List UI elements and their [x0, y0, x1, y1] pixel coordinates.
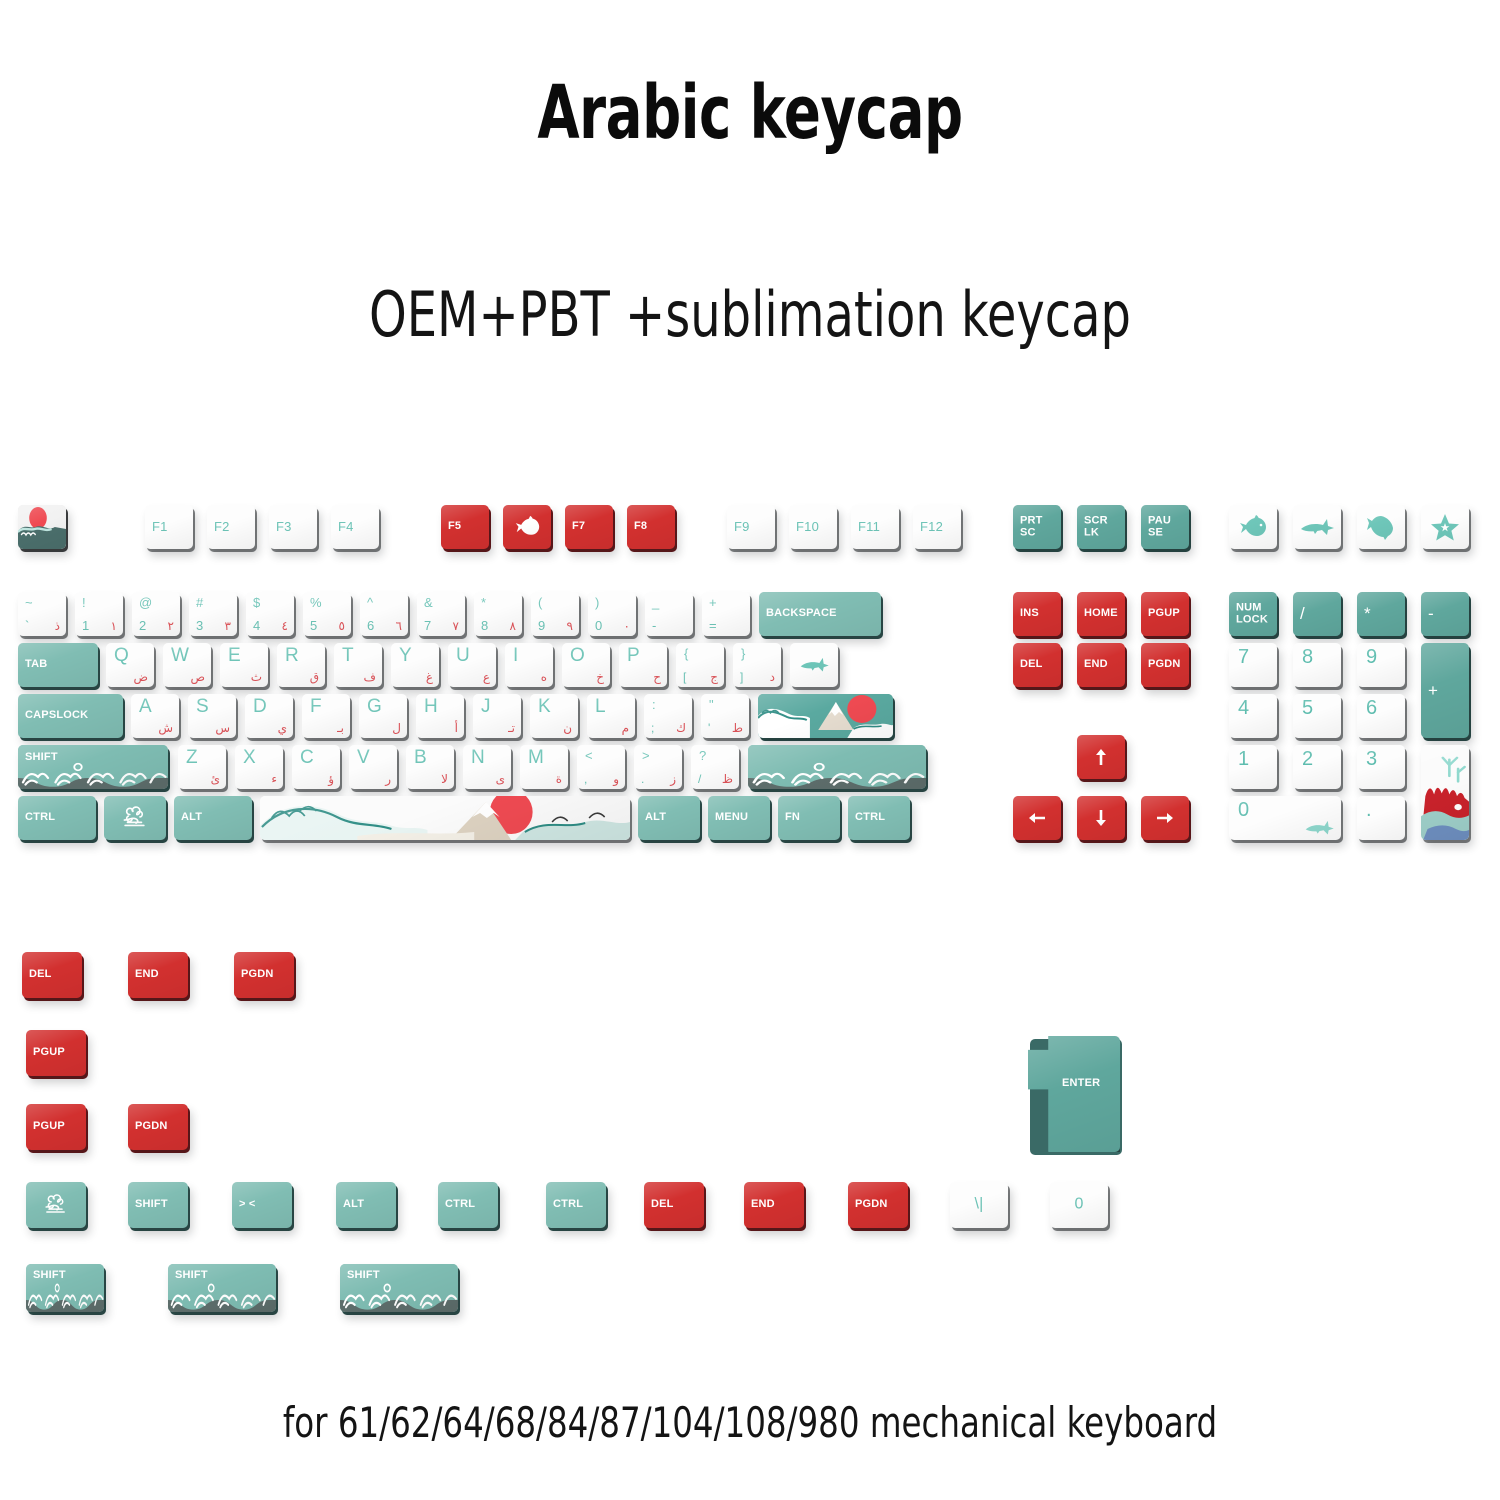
keycap-arabic-legend: ٧ — [453, 619, 459, 633]
keycap-legend: ALT — [645, 812, 666, 824]
keycap-extra-pgup-1[interactable]: PGUP — [26, 1030, 86, 1076]
keycap-legend-group: Tف — [334, 643, 382, 687]
keycap-arrow-right[interactable] — [1141, 796, 1189, 840]
keycap-legend: PGUP — [33, 1047, 65, 1059]
keycap-arabic-legend: ر — [385, 772, 391, 786]
keycap-key-i[interactable]: Iه — [505, 643, 553, 687]
keycap-key-y[interactable]: Yغ — [391, 643, 439, 687]
keycap-legend-group: "'ط — [701, 694, 749, 738]
keycap-digit-4[interactable]: $4٤ — [246, 592, 294, 636]
keycap-key-d[interactable]: Dي — [245, 694, 293, 738]
keycap-extra-shift-1[interactable]: SHIFT — [128, 1182, 188, 1228]
keycap-legend-group: Dي — [245, 694, 293, 738]
keycap-backtick[interactable]: ~`ذ — [18, 592, 66, 636]
keycap-legend: END — [1084, 659, 1108, 671]
keycap-shark-icon[interactable] — [1293, 505, 1341, 549]
keycap-scroll-lock[interactable]: SCRLK — [1077, 505, 1125, 549]
keycap-extra-shift-4[interactable]: SHIFT — [340, 1264, 458, 1312]
keycap-primary-legend: D — [253, 696, 267, 718]
keycap-legend-group: Uع — [448, 643, 496, 687]
keycap-legend: \| — [974, 1197, 983, 1214]
keycap-legend: F9 — [734, 520, 750, 534]
keycap-primary-legend: 3 — [196, 618, 204, 633]
keycap-numpad-5[interactable]: 5 — [1293, 694, 1341, 738]
keycap-legend-group: Iه — [505, 643, 553, 687]
keycap-numpad-0[interactable]: 0 — [1229, 796, 1341, 840]
keycap-arabic-legend: ه — [541, 670, 547, 684]
keycap-arabic-legend: غ — [426, 670, 433, 684]
keycap-numpad-divide[interactable]: / — [1293, 592, 1341, 636]
keycap-primary-legend: U — [456, 645, 470, 667]
keycap-arabic-legend: خ — [596, 670, 604, 684]
keycap-numpad-minus[interactable]: - — [1421, 592, 1469, 636]
keycap-digit-2[interactable]: @2٢ — [132, 592, 180, 636]
keycap-legend: HOME — [1084, 608, 1118, 620]
keycap-legend-group: Yغ — [391, 643, 439, 687]
shark-icon — [1229, 796, 1341, 840]
keycap-numpad-1[interactable]: 1 — [1229, 745, 1277, 789]
keycap-legend: SHIFT — [347, 1270, 380, 1282]
keycap-key-f[interactable]: Fبـ — [302, 694, 350, 738]
keycap-primary-legend: 8 — [481, 618, 489, 633]
keycap-legend-group: {[ج — [676, 643, 724, 687]
keycap-legend: DEL — [1020, 659, 1043, 671]
keycap-legend: CTRL — [445, 1199, 475, 1211]
keycap-extra-zero[interactable]: 0 — [1050, 1182, 1108, 1228]
keycap-primary-legend: " — [709, 697, 714, 712]
keycap-primary-legend: 7 — [424, 618, 432, 633]
keycap-arabic-legend: ق — [310, 670, 319, 684]
keycap-f2[interactable]: F2 — [207, 505, 255, 549]
keycap-legend: 3 — [1366, 749, 1377, 770]
keycap-legend: F12 — [920, 520, 943, 534]
keycap-legend-group: Zئ — [178, 745, 226, 789]
keycap-legend: CAPSLOCK — [25, 710, 88, 722]
keycap-legend: FN — [785, 812, 800, 824]
keycap-legend: 0 — [1074, 1197, 1083, 1214]
keycap-legend: / — [1300, 605, 1305, 623]
keycap-shifted-legend: _ — [652, 595, 660, 610]
keycap-digit-1[interactable]: !1١ — [75, 592, 123, 636]
keycap-arabic-legend: ك — [676, 721, 686, 735]
keycap-minus[interactable]: _- — [645, 592, 693, 636]
keycap-backspace[interactable]: BACKSPACE — [759, 592, 881, 636]
wave-pattern-artwork — [748, 745, 926, 789]
keycap-key-p[interactable]: Pح — [619, 643, 667, 687]
keycap-legend-group: Rق — [277, 643, 325, 687]
keycap-primary-legend: 2 — [139, 618, 147, 633]
keycap-legend: NUMLOCK — [1236, 602, 1268, 625]
keycap-legend: F5 — [448, 521, 461, 533]
keycap-arrow-up[interactable] — [1077, 735, 1125, 779]
keycap-legend-group: &7٧ — [417, 592, 465, 636]
keycap-primary-legend: : — [652, 697, 656, 712]
keycap-digit-0[interactable]: )0٠ — [588, 592, 636, 636]
keycap-f7[interactable]: F7 — [565, 505, 613, 549]
keycap-arabic-legend: ٥ — [339, 619, 345, 633]
keycap-key-e[interactable]: Eث — [220, 643, 268, 687]
keycap-arabic-legend: ث — [251, 670, 262, 684]
keycap-legend-group: _- — [645, 592, 693, 636]
keycap-pause[interactable]: PAUSE — [1141, 505, 1189, 549]
keycap-f1[interactable]: F1 — [145, 505, 193, 549]
keycap-key-m[interactable]: Mة — [520, 745, 568, 789]
keycap-menu[interactable]: MENU — [708, 796, 770, 840]
keycap-legend-group: (9٩ — [531, 592, 579, 636]
keycap-key-s[interactable]: Sس — [188, 694, 236, 738]
keycap-slash[interactable]: ?/ظ — [691, 745, 739, 789]
keycap-angelfish-icon[interactable] — [1357, 505, 1405, 549]
keycap-arabic-legend: ض — [133, 670, 148, 684]
keycap-digit-8[interactable]: *8٨ — [474, 592, 522, 636]
keycap-arabic-legend: و — [613, 772, 619, 786]
keycap-numpad-2[interactable]: 2 — [1293, 745, 1341, 789]
keycap-legend-group: <,و — [577, 745, 625, 789]
keycap-primary-legend: 1 — [82, 618, 90, 633]
keycap-caps-lock[interactable]: CAPSLOCK — [18, 694, 123, 738]
keycap-primary-legend: 6 — [367, 618, 375, 633]
keycap-primary-legend: Z — [186, 747, 198, 769]
keycap-primary-legend: 9 — [538, 618, 546, 633]
keycap-key-a[interactable]: Aش — [131, 694, 179, 738]
keycap-equal[interactable]: += — [702, 592, 750, 636]
keycap-digit-6[interactable]: ^6٦ — [360, 592, 408, 636]
keycap-left-alt[interactable]: ALT — [174, 796, 252, 840]
koi-fish-icon — [503, 505, 551, 549]
keycap-legend: CTRL — [855, 812, 885, 824]
keycap-key-k[interactable]: Kن — [530, 694, 578, 738]
keycap-numpad-7[interactable]: 7 — [1229, 643, 1277, 687]
keycap-enter[interactable] — [758, 694, 893, 738]
keycap-arabic-legend: ٢ — [168, 619, 174, 633]
keycap-arabic-legend: ء — [271, 772, 277, 786]
keycap-extra-backslash[interactable]: \| — [950, 1182, 1008, 1228]
keycap-extra-pgdn-2[interactable]: PGDN — [128, 1104, 188, 1150]
keycap-secondary-legend: ; — [651, 721, 655, 735]
keycap-legend: * — [1364, 605, 1371, 623]
keycap-primary-legend: Q — [114, 645, 129, 667]
keycap-backslash[interactable] — [790, 643, 838, 687]
angelfish-icon — [1357, 505, 1405, 549]
keycap-shifted-legend: * — [481, 595, 486, 610]
keycap-legend-group: Kن — [530, 694, 578, 738]
keycap-key-w[interactable]: Wص — [163, 643, 211, 687]
keycap-starfish-icon[interactable] — [1421, 505, 1469, 549]
keycap-legend: TAB — [25, 659, 47, 671]
keycap-legend-group: Lم — [587, 694, 635, 738]
keycap-right-ctrl[interactable]: CTRL — [848, 796, 910, 840]
keycap-semicolon[interactable]: :;ك — [644, 694, 692, 738]
keycap-digit-3[interactable]: #3٣ — [189, 592, 237, 636]
keycap-key-q[interactable]: Qض — [106, 643, 154, 687]
keycap-shifted-legend: ) — [595, 595, 600, 610]
keycap-primary-legend: ` — [25, 618, 30, 633]
keycap-legend: 9 — [1366, 647, 1377, 668]
keycap-arabic-legend: ٨ — [510, 619, 516, 633]
keycap-f12[interactable]: F12 — [913, 505, 961, 549]
keycap-primary-legend: 5 — [310, 618, 318, 633]
keycap-set-photo: F1F2F3F4F5F7F8F9F10F11F12PRTSCSCRLKPAUSE… — [0, 0, 1500, 1500]
keycap-key-g[interactable]: Gل — [359, 694, 407, 738]
keycap-legend-group: $4٤ — [246, 592, 294, 636]
keycap-extra-shift-2[interactable]: SHIFT — [26, 1264, 104, 1312]
keycap-legend: MENU — [715, 812, 748, 824]
keycap-legend: PGUP — [33, 1121, 65, 1133]
keycap-legend: PGUP — [1148, 608, 1180, 620]
keycap-extra-enter-iso[interactable]: ENTER — [1028, 1036, 1120, 1152]
keycap-digit-9[interactable]: (9٩ — [531, 592, 579, 636]
keycap-end[interactable]: END — [1077, 643, 1125, 687]
keycap-primary-legend: K — [538, 696, 551, 718]
keycap-primary-legend: X — [243, 747, 256, 769]
keycap-numpad-plus[interactable]: + — [1421, 643, 1469, 738]
keycap-f4[interactable]: F4 — [331, 505, 379, 549]
keycap-legend-group: Aش — [131, 694, 179, 738]
keycap-f10[interactable]: F10 — [789, 505, 837, 549]
keycap-extra-del-2[interactable]: DEL — [644, 1182, 704, 1228]
keycap-f11[interactable]: F11 — [851, 505, 899, 549]
keycap-key-z[interactable]: Zئ — [178, 745, 226, 789]
keycap-arabic-legend: ؤ — [328, 772, 334, 786]
keycap-primary-legend: R — [285, 645, 299, 667]
keycap-primary-legend: W — [171, 645, 189, 667]
keycap-bracket-left[interactable]: {[ج — [676, 643, 724, 687]
keycap-legend: 4 — [1238, 698, 1249, 719]
keycap-legend: CTRL — [25, 812, 55, 824]
keycap-secondary-legend: , — [584, 772, 588, 786]
keycap-legend-group: Cؤ — [292, 745, 340, 789]
keycap-legend: PRTSC — [1020, 515, 1043, 538]
keycap-legend-group: Vر — [349, 745, 397, 789]
keycap-fn[interactable]: FN — [778, 796, 840, 840]
keycap-legend-group: Xء — [235, 745, 283, 789]
arrow-down-icon — [1077, 796, 1125, 840]
keycap-legend: DEL — [651, 1199, 674, 1211]
keycap-arabic-legend: د — [770, 670, 775, 684]
keycap-arabic-legend: ذ — [55, 619, 60, 633]
keycap-numpad-8[interactable]: 8 — [1293, 643, 1341, 687]
keycap-quote[interactable]: "'ط — [701, 694, 749, 738]
keycap-page-down[interactable]: PGDN — [1141, 643, 1189, 687]
keycap-extra-win[interactable] — [26, 1182, 86, 1228]
cloud-swirl-icon — [26, 1182, 86, 1228]
keycap-f6[interactable] — [503, 505, 551, 549]
keycap-extra-shift-3[interactable]: SHIFT — [168, 1264, 276, 1312]
keycap-legend: END — [135, 969, 159, 981]
keycap-primary-legend: V — [357, 747, 370, 769]
keycap-legend-group: Eث — [220, 643, 268, 687]
keycap-shifted-legend: ! — [82, 595, 86, 610]
keycap-arrow-down[interactable] — [1077, 796, 1125, 840]
keycap-key-u[interactable]: Uع — [448, 643, 496, 687]
keycap-primary-legend: B — [414, 747, 427, 769]
keycap-primary-legend: O — [570, 645, 585, 667]
keycap-numpad-4[interactable]: 4 — [1229, 694, 1277, 738]
keycap-extra-pgup-2[interactable]: PGUP — [26, 1104, 86, 1150]
keycap-arabic-legend: ة — [556, 772, 562, 786]
keycap-arrow-left[interactable] — [1013, 796, 1061, 840]
keycap-legend: DEL — [29, 969, 52, 981]
great-wave-spacebar-artwork — [260, 796, 630, 840]
keycap-key-b[interactable]: Bلا — [406, 745, 454, 789]
keycap-legend: CTRL — [553, 1199, 583, 1211]
keycap-comma[interactable]: <,و — [577, 745, 625, 789]
keycap-primary-legend: 4 — [253, 618, 261, 633]
keycap-print-screen[interactable]: PRTSC — [1013, 505, 1061, 549]
keycap-legend-group: Wص — [163, 643, 211, 687]
keycap-page-up[interactable]: PGUP — [1141, 592, 1189, 636]
keycap-primary-legend: S — [196, 696, 209, 718]
keycap-legend: 1 — [1238, 749, 1249, 770]
keycap-legend-group: Sس — [188, 694, 236, 738]
keycap-arabic-legend: ش — [158, 721, 173, 735]
keycap-left-shift[interactable]: SHIFT — [18, 745, 168, 789]
keycap-left-ctrl[interactable]: CTRL — [18, 796, 96, 840]
keycap-insert[interactable]: INS — [1013, 592, 1061, 636]
keycap-f9[interactable]: F9 — [727, 505, 775, 549]
keycap-legend: INS — [1020, 608, 1039, 620]
keycap-legend: ALT — [343, 1199, 364, 1211]
keycap-legend-group: %5٥ — [303, 592, 351, 636]
keycap-primary-legend: > — [642, 748, 650, 763]
keycap-legend: 2 — [1302, 749, 1313, 770]
keycap-key-t[interactable]: Tف — [334, 643, 382, 687]
keycap-secondary-legend: [ — [683, 670, 687, 684]
keycap-legend-group: Nى — [463, 745, 511, 789]
keycap-f8[interactable]: F8 — [627, 505, 675, 549]
keycap-numpad-multiply[interactable]: * — [1357, 592, 1405, 636]
keycap-legend-group: Mة — [520, 745, 568, 789]
keycap-extra-pgdn-3[interactable]: PGDN — [848, 1182, 908, 1228]
keycap-legend: F7 — [572, 521, 585, 533]
keycap-arabic-legend: تـ — [508, 721, 515, 735]
keycap-arabic-legend: ٠ — [624, 619, 630, 633]
keycap-home[interactable]: HOME — [1077, 592, 1125, 636]
keycap-legend: PGDN — [855, 1199, 888, 1211]
keycap-arabic-legend: ي — [278, 721, 287, 735]
keycap-numpad-6[interactable]: 6 — [1357, 694, 1405, 738]
keycap-key-v[interactable]: Vر — [349, 745, 397, 789]
keycap-arabic-legend: ز — [670, 772, 676, 786]
keycap-shifted-legend: ~ — [25, 595, 33, 610]
shark-icon — [790, 643, 838, 687]
keycap-numpad-9[interactable]: 9 — [1357, 643, 1405, 687]
keycap-numpad-enter[interactable] — [1421, 745, 1469, 840]
keycap-arabic-legend: ن — [563, 721, 572, 735]
keycap-extra-end-1[interactable]: END — [128, 952, 188, 998]
keycap-koi-fish-icon[interactable] — [1229, 505, 1277, 549]
keycap-legend: F1 — [152, 520, 168, 534]
keycap-extra-end-2[interactable]: END — [744, 1182, 804, 1228]
keycap-numpad-decimal[interactable]: . — [1357, 796, 1405, 840]
keycap-arabic-legend: ٩ — [567, 619, 573, 633]
keycap-primary-legend: I — [513, 645, 519, 667]
keycap-numpad-3[interactable]: 3 — [1357, 745, 1405, 789]
keycap-extra-ctrl-2[interactable]: CTRL — [546, 1182, 606, 1228]
keycap-legend: PGDN — [241, 969, 274, 981]
keycap-legend: ENTER — [1062, 1078, 1100, 1090]
great-wave-artwork — [18, 505, 66, 549]
keycap-primary-legend: < — [585, 748, 593, 763]
keycap-primary-legend: = — [709, 618, 717, 633]
keycap-arabic-legend: ى — [496, 772, 505, 786]
keycap-key-h[interactable]: Hأ — [416, 694, 464, 738]
keycap-f5[interactable]: F5 — [441, 505, 489, 549]
keycap-legend-group: ?/ظ — [691, 745, 739, 789]
keycap-extra-iso[interactable]: > < — [232, 1182, 292, 1228]
keycap-extra-ctrl-1[interactable]: CTRL — [438, 1182, 498, 1228]
keycap-period[interactable]: >.ز — [634, 745, 682, 789]
keycap-bracket-right[interactable]: }]د — [733, 643, 781, 687]
keycap-shifted-legend: @ — [139, 595, 153, 610]
keycap-arabic-legend: ظ — [722, 772, 733, 786]
keycap-num-lock[interactable]: NUMLOCK — [1229, 592, 1277, 636]
keycap-tab[interactable]: TAB — [18, 643, 98, 687]
keycap-right-shift[interactable] — [748, 745, 926, 789]
keycap-primary-legend: F — [310, 696, 322, 718]
keycap-legend-group: :;ك — [644, 694, 692, 738]
keycap-key-r[interactable]: Rق — [277, 643, 325, 687]
keycap-primary-legend: ? — [699, 748, 707, 763]
keycap-right-alt[interactable]: ALT — [638, 796, 700, 840]
keycap-primary-legend: L — [595, 696, 606, 718]
keycap-left-win[interactable] — [104, 796, 166, 840]
arrow-left-icon — [1013, 796, 1061, 840]
keycap-legend: PGDN — [135, 1121, 168, 1133]
keycap-legend: > < — [239, 1199, 256, 1211]
keycap-secondary-legend: / — [698, 772, 702, 786]
keycap-arabic-legend: م — [622, 721, 629, 735]
keycap-legend-group: >.ز — [634, 745, 682, 789]
keycap-extra-alt[interactable]: ALT — [336, 1182, 396, 1228]
keycap-legend: SHIFT — [135, 1199, 168, 1211]
keycap-legend: - — [1428, 605, 1434, 623]
keycap-delete[interactable]: DEL — [1013, 643, 1061, 687]
keycap-arabic-legend: ئ — [211, 772, 220, 786]
keycap-legend: F11 — [858, 520, 880, 534]
keycap-key-x[interactable]: Xء — [235, 745, 283, 789]
keycap-legend-group: @2٢ — [132, 592, 180, 636]
keycap-legend: 8 — [1302, 647, 1313, 668]
keycap-legend: END — [751, 1199, 775, 1211]
keycap-legend-group: !1١ — [75, 592, 123, 636]
keycap-digit-7[interactable]: &7٧ — [417, 592, 465, 636]
keycap-key-n[interactable]: Nى — [463, 745, 511, 789]
keycap-key-j[interactable]: Jتـ — [473, 694, 521, 738]
keycap-key-l[interactable]: Lم — [587, 694, 635, 738]
keycap-primary-legend: N — [471, 747, 485, 769]
starfish-icon — [1421, 505, 1469, 549]
keycap-key-c[interactable]: Cؤ — [292, 745, 340, 789]
keycap-key-o[interactable]: Oخ — [562, 643, 610, 687]
keycap-legend-group: += — [702, 592, 750, 636]
keycap-legend: SHIFT — [33, 1270, 66, 1282]
keycap-legend: . — [1366, 800, 1372, 821]
keycap-f3[interactable]: F3 — [269, 505, 317, 549]
keycap-legend: F8 — [634, 521, 647, 533]
keycap-spacebar[interactable] — [260, 796, 630, 840]
keycap-extra-del-1[interactable]: DEL — [22, 952, 82, 998]
keycap-esc[interactable] — [18, 505, 66, 549]
keycap-primary-legend: C — [300, 747, 314, 769]
keycap-secondary-legend: . — [641, 772, 645, 786]
keycap-arabic-legend: ٤ — [282, 619, 288, 633]
keycap-primary-legend: P — [627, 645, 640, 667]
keycap-digit-5[interactable]: %5٥ — [303, 592, 351, 636]
keycap-extra-pgdn-1[interactable]: PGDN — [234, 952, 294, 998]
keycap-legend-group: Bلا — [406, 745, 454, 789]
keycap-legend-group: ^6٦ — [360, 592, 408, 636]
